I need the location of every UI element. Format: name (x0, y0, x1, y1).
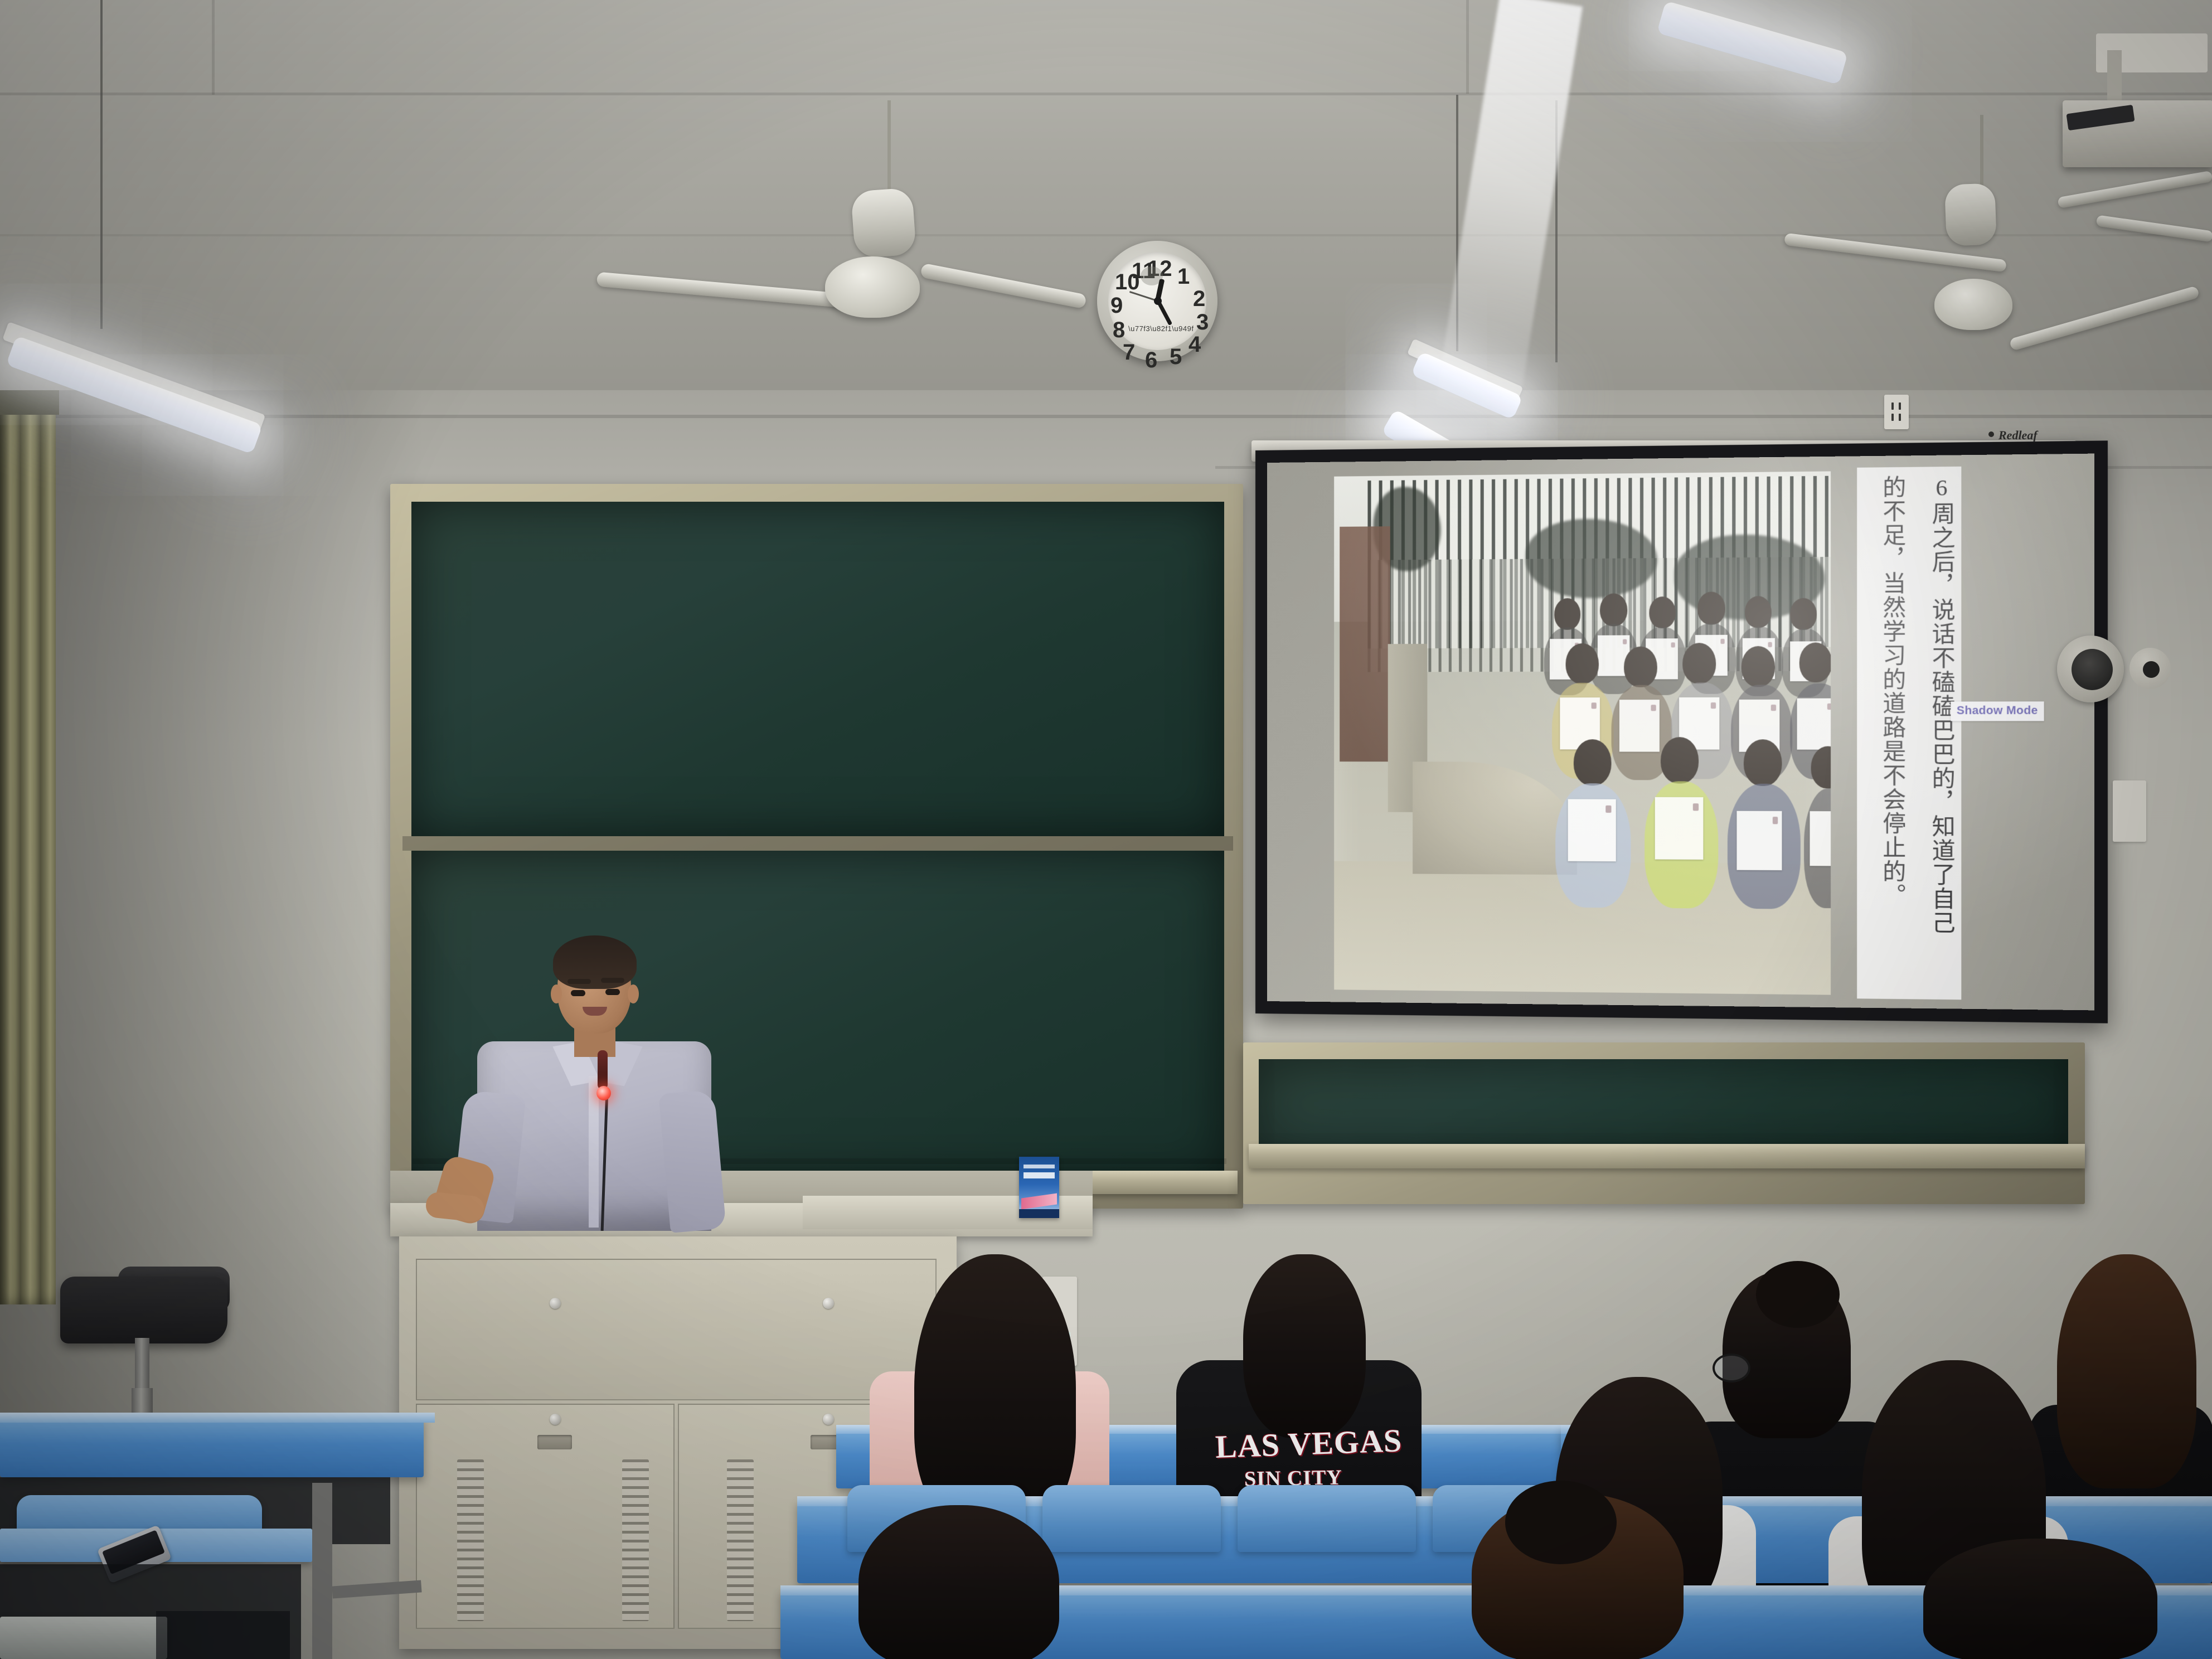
podium-lock[interactable] (550, 1414, 561, 1425)
slide-photo (1334, 471, 1831, 995)
light-hanger-rod (1456, 95, 1458, 351)
blackboard-upper-panel (411, 502, 1224, 836)
projection-screen: 6周之后，说话不磕磕巴巴的，知道了自己 的不足，当然学习的道路是不会停止的。 S… (1267, 454, 2094, 1011)
podium-drawer[interactable] (416, 1259, 937, 1400)
stool-seat[interactable] (60, 1277, 227, 1343)
podium-handle[interactable] (537, 1435, 572, 1449)
lecturer-shirt-placket (589, 1076, 599, 1228)
student-hair-bun (1505, 1481, 1617, 1564)
podium-vent (727, 1459, 754, 1621)
hoodie-text-line1: LAS VEGAS (1215, 1422, 1403, 1466)
podium-vent (457, 1459, 484, 1621)
seat-backrest[interactable] (1042, 1485, 1221, 1552)
wall-junction-box (2113, 780, 2146, 842)
student-glasses (1713, 1354, 1750, 1382)
microphone (598, 1050, 608, 1089)
screen-brand-label: Redleaf (1998, 428, 2038, 443)
ceiling-seam (212, 0, 215, 95)
projector-mount-arm (2107, 50, 2122, 106)
classroom-scene: 12 1 2 3 4 5 6 7 8 9 10 11 \u77f3\u82f1\… (0, 0, 2212, 1659)
microphone-led-icon (596, 1086, 611, 1100)
under-seat-shadow (156, 1611, 290, 1659)
podium-lock[interactable] (823, 1298, 834, 1309)
light-hanger-rod (100, 0, 103, 329)
seat-front-left[interactable] (0, 1617, 167, 1659)
lecturer-eyebrow (567, 979, 591, 984)
ceiling (0, 0, 2212, 440)
lecturer-eyebrow (601, 978, 624, 983)
ceiling-seam (1466, 0, 1469, 94)
podium-lock[interactable] (823, 1414, 834, 1425)
podium-lock[interactable] (550, 1298, 561, 1309)
wall-trim (0, 415, 2212, 418)
ceiling-seam (0, 93, 2212, 95)
slide-text-panel: 6周之后，说话不磕磕巴巴的，知道了自己 的不足，当然学习的道路是不会停止的。 (1857, 467, 1961, 1000)
desk-leg (312, 1483, 332, 1659)
screen-lower-tray (1249, 1144, 2085, 1168)
podium-vent (622, 1459, 649, 1621)
lecturer-eye (605, 989, 620, 995)
ceiling-seam (0, 234, 2212, 236)
slide-vertical-text-col2: 的不足，当然学习的道路是不会停止的。 (1878, 475, 1906, 990)
lecturer-ear (628, 984, 639, 1003)
student-hair (1243, 1254, 1366, 1438)
student-hair (858, 1505, 1059, 1659)
desk-row-left-back (0, 1416, 424, 1477)
shadow-mode-tag: Shadow Mode (1951, 701, 2044, 721)
lecturer-ear (551, 984, 562, 1003)
blackboard-divider (402, 836, 1233, 851)
wall-power-outlet[interactable] (1884, 395, 1909, 429)
window-curtain (0, 390, 56, 1304)
slide-vertical-text-col1: 6周之后，说话不磕磕巴巴的，知道了自己 (1927, 474, 1955, 990)
seat-backrest[interactable] (1238, 1485, 1416, 1552)
speaker-cone (2143, 661, 2160, 678)
student-hair-bun (1756, 1261, 1840, 1328)
light-hanger-rod (1555, 100, 1558, 362)
lecturer-eye (571, 990, 585, 996)
screen-lower-panel (1259, 1059, 2068, 1148)
speaker-cone (2072, 649, 2113, 690)
ceiling-projector (2063, 100, 2212, 167)
student-hair (1923, 1539, 2157, 1659)
student-hair (2057, 1254, 2196, 1488)
curtain-rail (0, 390, 59, 415)
blue-textbook[interactable] (1019, 1157, 1059, 1218)
bench-edge (0, 1413, 435, 1423)
